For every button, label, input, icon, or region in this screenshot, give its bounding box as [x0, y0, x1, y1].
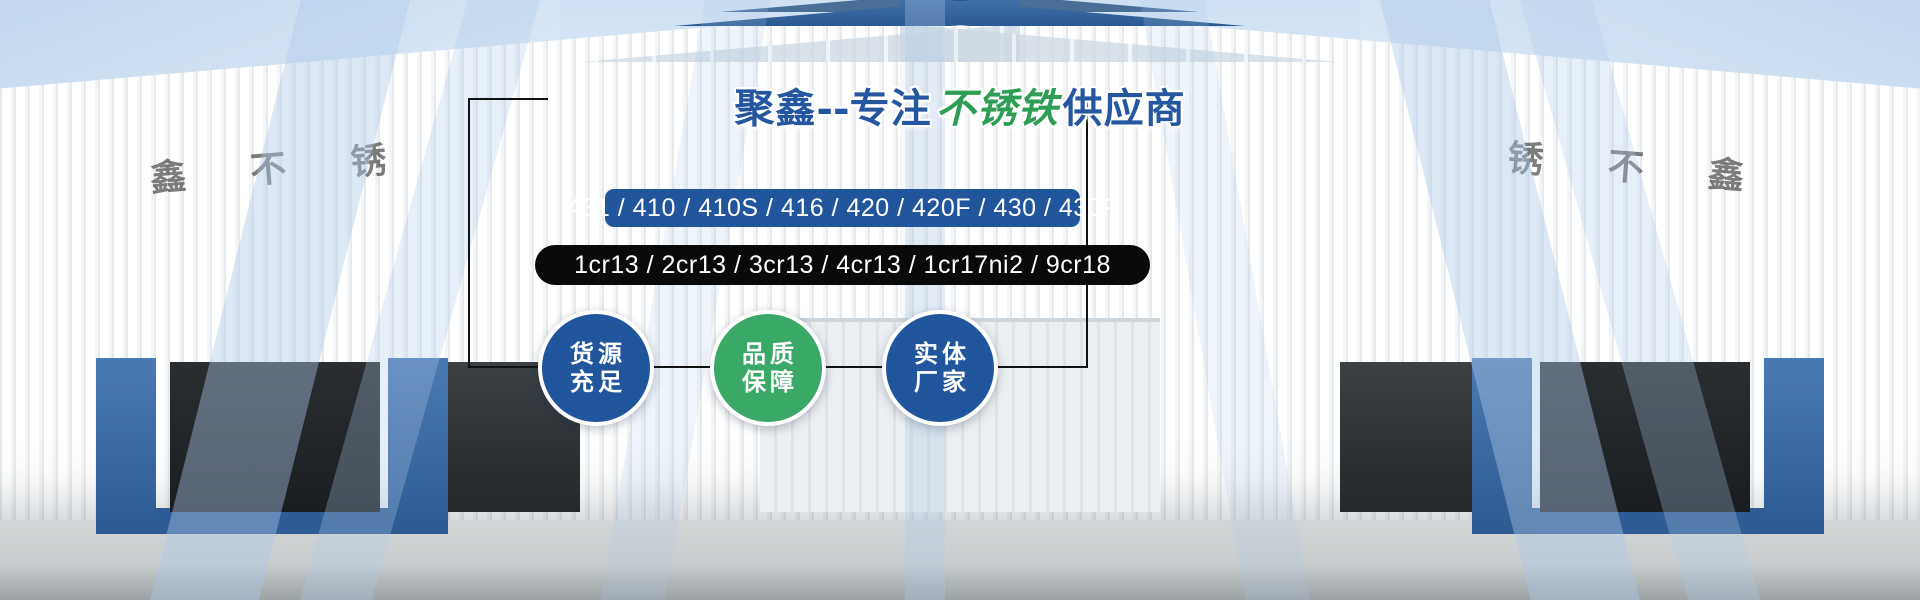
headline-dash: -- [816, 85, 849, 132]
headline-lead: 专注 [850, 85, 932, 132]
headline-brand: 聚鑫 [734, 85, 816, 132]
badge-line-1: 货源 [566, 340, 626, 368]
badge-real-factory: 实体 厂家 [882, 310, 998, 426]
headline-highlight: 不锈铁 [932, 85, 1063, 132]
badge-quality-guarantee: 品质 保障 [710, 310, 826, 426]
bracket-bottom-mid-1 [646, 366, 716, 368]
badge-supply-sufficient: 货源 充足 [538, 310, 654, 426]
bracket-bottom-right [988, 366, 1088, 368]
banner-headline: 聚鑫--专注不锈铁供应商 [0, 76, 1920, 134]
stainless-grades-pill: 431 / 410 / 410S / 416 / 420 / 420F / 43… [605, 189, 1080, 227]
badge-line-2: 厂家 [910, 368, 970, 396]
bracket-right [1086, 98, 1088, 366]
bracket-left [468, 98, 470, 366]
headline-tail: 供应商 [1063, 85, 1186, 132]
badge-line-2: 保障 [738, 368, 798, 396]
promo-banner: 鑫 不 锈 锈 不 鑫 聚鑫--专注不锈铁供应商 431 / 410 / 410… [0, 0, 1920, 600]
badge-line-2: 充足 [566, 368, 626, 396]
badge-line-1: 品质 [738, 340, 798, 368]
banner-content: 聚鑫--专注不锈铁供应商 431 / 410 / 410S / 416 / 42… [0, 0, 1920, 600]
badge-line-1: 实体 [910, 340, 970, 368]
cr-grades-pill: 1cr13 / 2cr13 / 3cr13 / 4cr13 / 1cr17ni2… [535, 245, 1150, 285]
bracket-bottom-mid-2 [818, 366, 888, 368]
